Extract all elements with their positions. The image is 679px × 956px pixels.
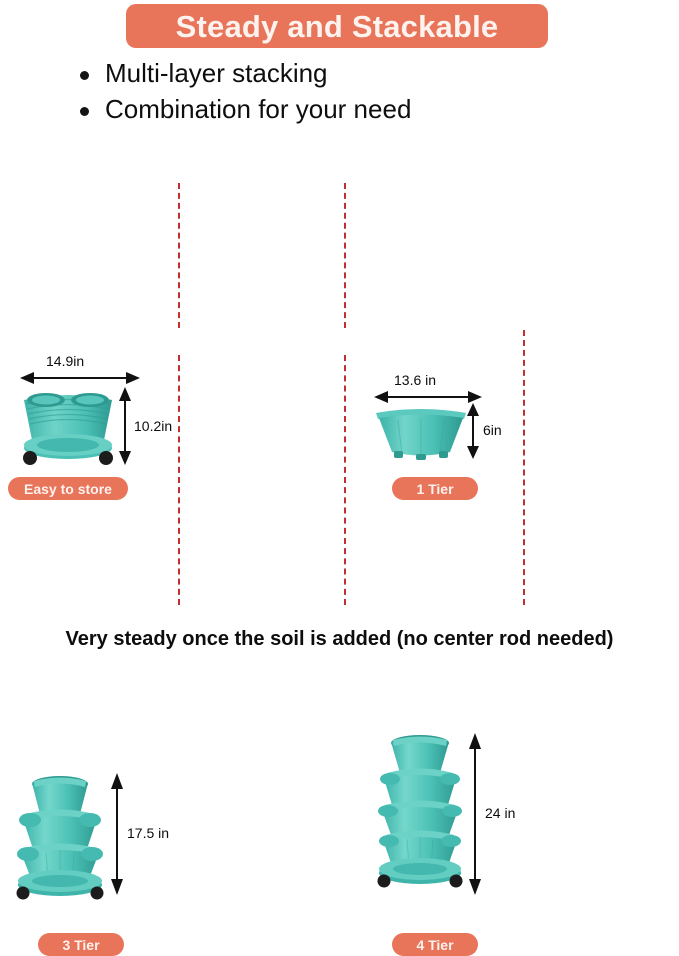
badge-tier-4[interactable]: 4 Tier xyxy=(392,933,478,956)
badge-label: 3 Tier xyxy=(62,938,99,952)
bullet-dot-icon xyxy=(80,71,89,80)
bullet-label: Combination for your need xyxy=(105,94,411,125)
list-item: Combination for your need xyxy=(80,94,580,125)
bullet-dot-icon xyxy=(80,107,89,116)
badge-label: 4 Tier xyxy=(416,938,453,952)
planter-illustration-tier-4 xyxy=(374,729,466,899)
height-arrow-icon xyxy=(468,733,482,895)
height-dimension-label: 24 in xyxy=(485,805,515,821)
panel-tier-3: 17.5 in xyxy=(0,355,178,605)
panel-tier-1: 13.6 in 6in xyxy=(178,175,344,330)
infographic-canvas: Steady and Stackable Multi-layer stackin… xyxy=(0,0,679,665)
panel-easy-to-store: 14.9in 10.2in xyxy=(0,175,178,330)
panel-tier-5: 29 in xyxy=(344,345,524,605)
bullet-label: Multi-layer stacking xyxy=(105,58,328,89)
banner-title: Steady and Stackable xyxy=(176,11,499,42)
feature-bullet-list: Multi-layer stacking Combination for you… xyxy=(80,58,580,130)
height-arrow-icon xyxy=(110,773,124,895)
panel-tier-6: 35 in xyxy=(523,330,679,605)
list-item: Multi-layer stacking xyxy=(80,58,580,89)
height-dimension-label: 17.5 in xyxy=(127,825,169,841)
panel-tier-4: 24 in xyxy=(178,355,344,605)
planter-illustration-tier-3 xyxy=(12,770,108,900)
panel-tier-2: 12.5 in xyxy=(344,175,524,330)
footer-caption: Very steady once the soil is added (no c… xyxy=(0,628,679,651)
badge-tier-3[interactable]: 3 Tier xyxy=(38,933,124,956)
header-banner: Steady and Stackable xyxy=(126,4,548,48)
